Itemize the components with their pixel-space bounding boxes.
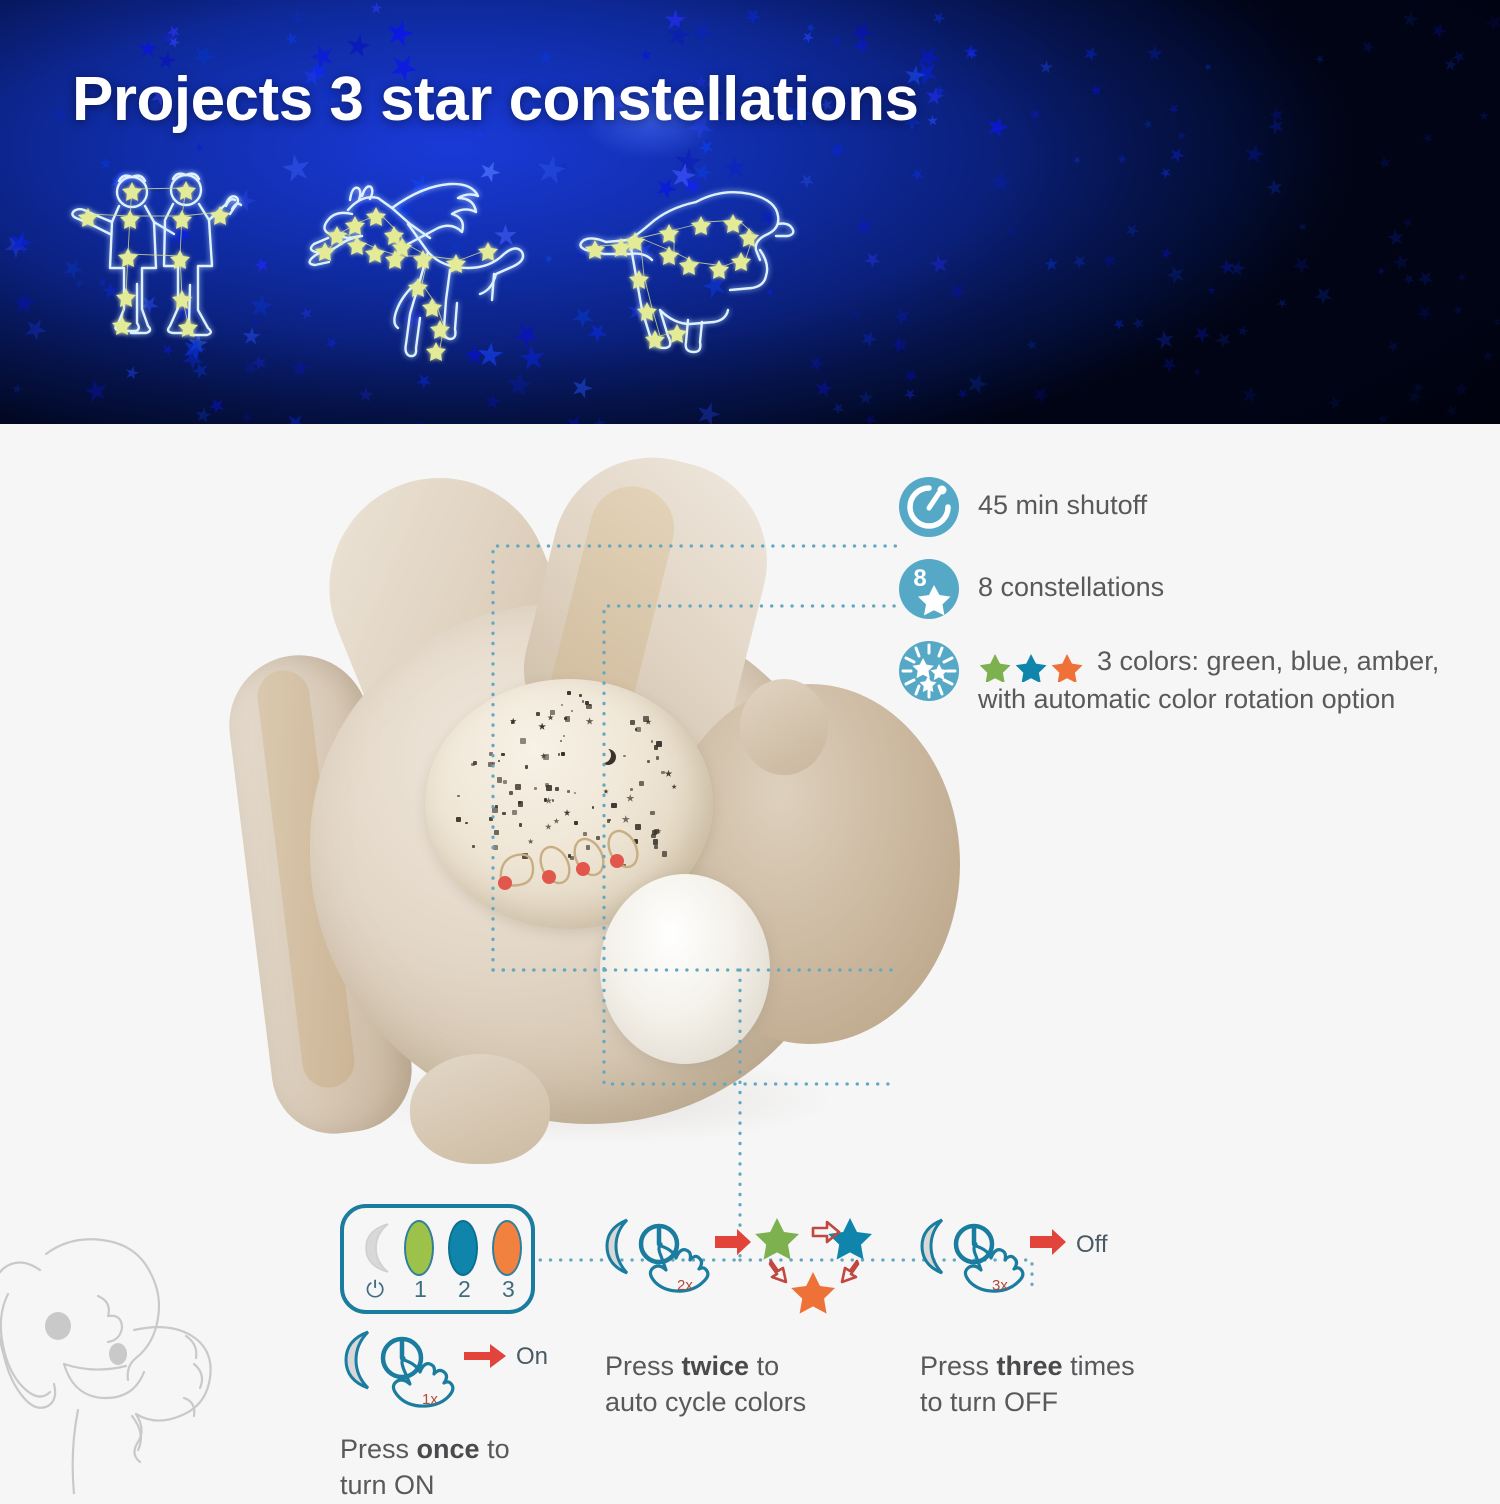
constellation-row [0,160,1500,360]
color-1-label: 1 [414,1276,427,1303]
feature-colors-line1: 3 colors: green, blue, amber, [1097,646,1439,676]
caption-line2-2: auto cycle colors [605,1387,806,1417]
press-once-caption: Press once to turn ON [340,1432,640,1504]
red-arrow-icon [464,1344,506,1368]
press-once-instruction: ⏻ 1 2 3 1x On [340,1204,640,1504]
feature-colors: 3 colors: green, blue, amber, with autom… [898,640,1468,717]
color-2-button[interactable] [448,1220,478,1276]
feature-shutoff: 45 min shutoff [898,476,1468,538]
feature-list: 45 min shutoff 8 8 constellations [898,476,1468,737]
feature-colors-line2: with automatic color rotation option [978,684,1395,714]
instruction-row: ⏻ 1 2 3 1x On [340,1204,1450,1494]
eight-constellations-icon: 8 [898,558,960,620]
button-control-strip[interactable]: ⏻ 1 2 3 [340,1204,535,1314]
caption-bold-2: twice [682,1351,750,1381]
bunny-paw-nub [740,679,828,775]
bunny-foot [410,1054,550,1164]
projector-moon-cutout [595,747,611,763]
caption-post-3: times [1063,1351,1135,1381]
color-star-swatches [978,648,1090,682]
color-1-button[interactable] [404,1220,434,1276]
moon-power-hand-cycle-icon: 2x [605,1212,895,1332]
press-once-diagram: 1x On [340,1328,640,1420]
green-star-icon [755,1218,799,1260]
svg-text:8: 8 [913,565,926,592]
red-arrow-icon [715,1229,751,1255]
infographic-page: Projects 3 star constellations [0,0,1500,1500]
red-arrow-icon [1030,1229,1066,1255]
feature-constellations-label: 8 constellations [978,558,1164,604]
caption-pre-1: Press [340,1434,417,1464]
press-count-1x: 1x [422,1391,438,1408]
press-three-times-instruction: 3x Off Press three times to turn OFF [920,1212,1220,1421]
color-3-label: 3 [502,1276,515,1303]
caption-line2-1: turn ON [340,1470,435,1500]
caption-post-1: to [480,1434,510,1464]
press-twice-caption: Press twice to auto cycle colors [605,1349,905,1421]
moon-power-hand-off-icon: 3x Off [920,1212,1180,1332]
feature-constellations: 8 8 constellations [898,558,1468,620]
color-3-button[interactable] [492,1220,522,1276]
moon-indicator-icon [362,1222,396,1274]
caption-line2-3: to turn OFF [920,1387,1058,1417]
plush-bunny-star-projector [240,454,940,1134]
ursa-major-bear-constellation [578,184,808,354]
caption-post-2: to [749,1351,779,1381]
bunny-tail-pompom [600,874,770,1064]
press-count-2x: 2x [677,1277,693,1294]
gemini-twins-constellation [70,164,260,354]
press-three-times-caption: Press three times to turn OFF [920,1349,1220,1421]
caption-pre-2: Press [605,1351,682,1381]
line-art-dog-illustration [0,1224,236,1494]
product-detail-section: 45 min shutoff 8 8 constellations [0,424,1500,1500]
feature-colors-label: 3 colors: green, blue, amber, with autom… [978,640,1439,717]
power-symbol-label: ⏻ [366,1276,384,1303]
night-sky-hero: Projects 3 star constellations [0,0,1500,424]
page-title: Projects 3 star constellations [72,64,918,135]
arrow-label-on: On [516,1343,548,1370]
caption-bold-1: once [417,1434,480,1464]
caption-pre-3: Press [920,1351,997,1381]
press-count-3x: 3x [992,1277,1008,1294]
amber-star-icon [791,1272,835,1314]
color-burst-icon [898,640,960,702]
timer-shutoff-icon [898,476,960,538]
pegasus-constellation [300,174,530,364]
moon-power-hand-icon: 1x On [340,1328,570,1420]
cycle-arrow-down-right-icon [770,1261,786,1282]
arrow-label-off: Off [1076,1231,1108,1258]
cycle-arrow-down-left-icon [842,1261,858,1282]
color-2-label: 2 [458,1276,471,1303]
feature-shutoff-label: 45 min shutoff [978,476,1147,522]
blue-star-icon [828,1218,872,1260]
caption-bold-3: three [997,1351,1063,1381]
press-twice-instruction: 2x Press twice to auto cycle colors [605,1212,905,1421]
